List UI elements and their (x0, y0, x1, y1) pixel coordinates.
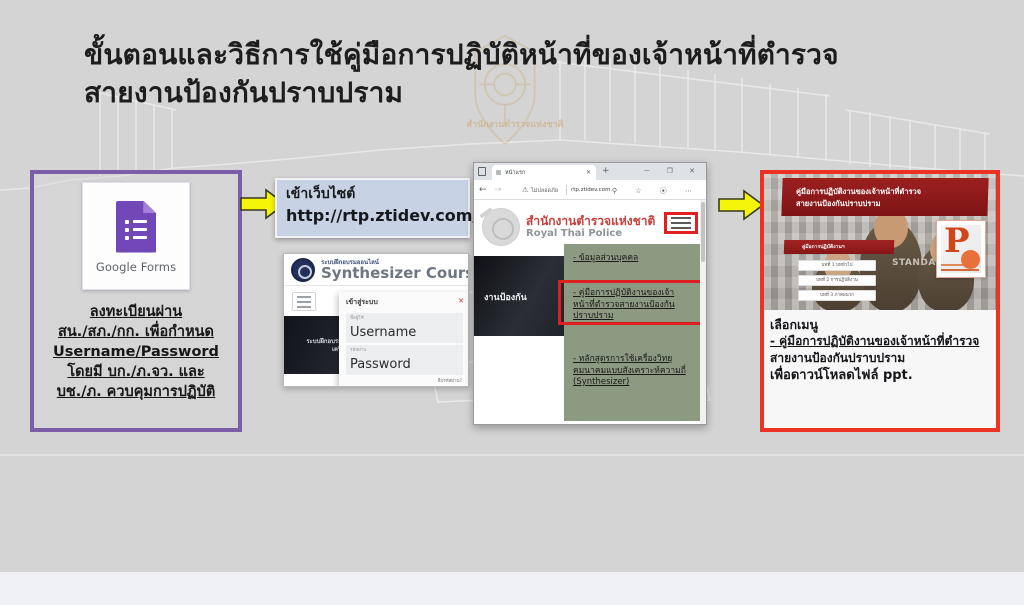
slide-canvas: สำนักงานตำรวจแห่งชาติ ขั้นตอนและวิธีการใ… (0, 0, 1024, 605)
police-badge-icon (291, 258, 315, 282)
url-callout-label: เข้าเว็บไซต์ (286, 185, 459, 204)
site-hero-text: งานป้องกัน (484, 290, 527, 304)
login-site-header: ระบบฝึกอบรมออนไลน์ Synthesizer Course (284, 254, 468, 286)
new-tab-button[interactable]: + (602, 167, 610, 176)
step4-caption-line-1: เลือกเมนู (770, 316, 992, 333)
menu-item-highlight-box (558, 280, 706, 325)
omnibar-divider (566, 185, 567, 195)
back-button-icon[interactable]: ← (479, 185, 487, 195)
forward-button-icon[interactable]: → (494, 185, 502, 195)
site-title-english: Royal Thai Police (526, 228, 622, 239)
side-menu-header: คู่มือการปฏิบัติงานฯ (784, 240, 894, 254)
site-dropdown-menu: - ข้อมูลส่วนบุคคล - คู่มือการปฏิบัติงานข… (564, 244, 702, 421)
login-modal-title-text: เข้าสู่ระบบ (346, 298, 378, 306)
manual-title-line-2: สายงานป้องกันปราบปราม (796, 198, 976, 210)
step1-caption-line-4: โดยมี บก./ภ.จว. และ (38, 362, 234, 382)
site-hamburger-menu-icon[interactable] (664, 212, 698, 234)
title-line-1: ขั้นตอนและวิธีการใช้คู่มือการปฏิบัติหน้า… (84, 38, 839, 71)
powerpoint-icon-letter: P (944, 224, 970, 258)
step1-caption: ลงทะเบียนผ่าน สน./สภ./กก. เพื่อกำหนด Use… (38, 302, 234, 402)
login-site-title: Synthesizer Course (321, 264, 469, 282)
login-submit-button[interactable]: เข้าสู่ระบบ (346, 386, 463, 387)
address-bar-url[interactable]: rtp.ztidev.com (571, 187, 610, 193)
password-label: รหัสผ่าน (350, 346, 459, 353)
rtp-logo-icon (482, 208, 520, 246)
menu-item-synthesizer-course[interactable]: - หลักสูตรการใช้เครื่องวิทยุคมนาคมแบบสัง… (573, 354, 695, 389)
url-callout-box: เข้าเว็บไซต์ http://rtp.ztidev.com/ (275, 178, 470, 238)
username-field[interactable]: ชื่อผู้ใช้ Username (346, 313, 463, 343)
step4-panel: คู่มือการปฏิบัติงานของเจ้าหน้าที่ตำรวจ ส… (760, 170, 1000, 432)
powerpoint-icon: P (936, 220, 986, 278)
browser-toolbar-icons[interactable]: ⚲ ☆ ⦿ ⋯ (612, 186, 700, 196)
login-modal-title: เข้าสู่ระบบ ✕ (339, 292, 469, 311)
security-status-text: ไม่ปลอดภัย (531, 187, 558, 195)
title-line-2: สายงานป้องกันปราบปราม (84, 74, 904, 112)
password-value: Password (350, 357, 411, 372)
tab-favicon-icon (496, 170, 501, 175)
tab-close-icon[interactable]: ✕ (586, 169, 591, 176)
username-label: ชื่อผู้ใช้ (350, 314, 459, 321)
login-hamburger-icon[interactable] (292, 292, 316, 311)
step1-caption-line-2: สน./สภ./กก. เพื่อกำหนด (38, 322, 234, 342)
browser-window-screenshot: หน้าแรก ✕ + － ❐ ✕ ← → ⚠ ไม่ปลอดภัย rtp.z… (473, 162, 707, 425)
side-menu-header-text: คู่มือการปฏิบัติงานฯ (802, 243, 845, 251)
step4-caption: เลือกเมนู - คู่มือการปฏิบัติงานของเจ้าหน… (770, 316, 992, 384)
watermark-text: สำนักงานตำรวจแห่งชาติ (420, 120, 610, 131)
page-title: ขั้นตอนและวิธีการใช้คู่มือการปฏิบัติหน้า… (84, 36, 904, 112)
window-controls[interactable]: － ❐ ✕ (643, 166, 702, 176)
step1-caption-line-1: ลงทะเบียนผ่าน (38, 302, 234, 322)
url-callout-url: http://rtp.ztidev.com/ (286, 204, 459, 228)
step1-caption-line-3: Username/Password (38, 342, 234, 362)
manual-title-line-1: คู่มือการปฏิบัติงานของเจ้าหน้าที่ตำรวจ (796, 186, 976, 198)
login-screenshot: ระบบฝึกอบรมออนไลน์ Synthesizer Course ระ… (283, 253, 469, 387)
manual-title-text: คู่มือการปฏิบัติงานของเจ้าหน้าที่ตำรวจ ส… (796, 186, 976, 210)
not-secure-icon: ⚠ (522, 186, 528, 194)
step4-caption-line-3: สายงานป้องกันปราบปราม (770, 350, 992, 367)
browser-address-bar[interactable]: ← → ⚠ ไม่ปลอดภัย rtp.ztidev.com ⚲ ☆ ⦿ ⋯ (474, 180, 706, 200)
menu-item-personal-info[interactable]: - ข้อมูลส่วนบุคคล (573, 253, 693, 265)
bottom-band (0, 572, 1024, 605)
step4-caption-line-2: - คู่มือการปฏิบัติงานของเจ้าหน้าที่ตำรวจ (770, 333, 992, 350)
side-menu-item-3[interactable]: บทที่ 3 ภาคผนวก (798, 290, 876, 301)
browser-tab[interactable]: หน้าแรก ✕ (492, 165, 596, 180)
close-icon[interactable]: ✕ (458, 297, 464, 305)
password-field[interactable]: รหัสผ่าน Password (346, 345, 463, 375)
username-value: Username (350, 325, 416, 340)
browser-tab-bar: หน้าแรก ✕ + － ❐ ✕ (474, 163, 706, 180)
arrow-right-icon-2 (718, 189, 764, 221)
step1-panel: Google Forms ลงทะเบียนผ่าน สน./สภ./กก. เ… (30, 170, 242, 432)
google-forms-label: Google Forms (96, 260, 176, 274)
browser-page-content: สำนักงานตำรวจแห่งชาติ Royal Thai Police … (474, 200, 706, 425)
side-menu-item-2[interactable]: บทที่ 2 การปฏิบัติงาน (798, 275, 876, 286)
browser-scrollbar[interactable] (700, 200, 706, 425)
step4-caption-line-4: เพื่อดาวน์โหลดไฟล์ ppt. (770, 367, 992, 384)
side-menu-item-1[interactable]: บทที่ 1 บททั่วไป (798, 260, 876, 271)
step1-caption-line-5: บช./ภ. ควบคุมการปฏิบัติ (38, 382, 234, 402)
google-forms-icon (116, 201, 156, 253)
forgot-password-link[interactable]: ลืมรหัสผ่าน? (347, 377, 462, 384)
login-modal: เข้าสู่ระบบ ✕ ชื่อผู้ใช้ Username รหัสผ่… (339, 292, 469, 387)
browser-tab-title: หน้าแรก (505, 170, 525, 176)
google-forms-card: Google Forms (82, 182, 190, 290)
browser-app-icon (478, 167, 486, 176)
